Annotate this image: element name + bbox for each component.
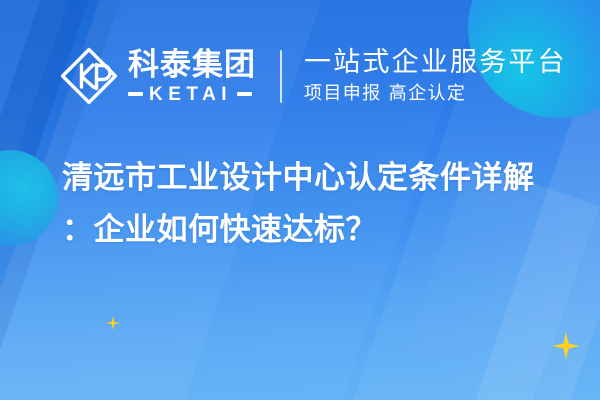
tagline-block: 一站式企业服务平台 项目申报 高企认定 [304, 48, 567, 105]
sparkle-icon [106, 316, 120, 330]
dash-right-icon [237, 92, 252, 96]
logo-name-en: KETAI [149, 85, 232, 104]
dash-left-icon [128, 92, 143, 96]
headline-line-2: ：企业如何快速达标？ [62, 204, 562, 256]
tagline-main: 一站式企业服务平台 [304, 48, 567, 78]
kp-monogram-icon [58, 45, 120, 107]
tagline-sub: 项目申报 高企认定 [304, 83, 567, 105]
headline-line-1: 清远市工业设计中心认定条件详解 [62, 152, 562, 204]
logo-name-cn: 科泰集团 [128, 50, 256, 82]
logo-wordmark: 科泰集团 KETAI [128, 50, 256, 104]
vertical-divider [280, 50, 282, 103]
promo-banner: 科泰集团 KETAI 一站式企业服务平台 项目申报 高企认定 清远市工业设计中心… [0, 0, 600, 400]
cyan-blob [0, 150, 58, 246]
banner-header: 科泰集团 KETAI 一站式企业服务平台 项目申报 高企认定 [0, 38, 600, 114]
sparkle-icon [552, 332, 580, 360]
logo-name-en-row: KETAI [128, 85, 256, 104]
headline-block: 清远市工业设计中心认定条件详解 ：企业如何快速达标？ [62, 152, 562, 256]
